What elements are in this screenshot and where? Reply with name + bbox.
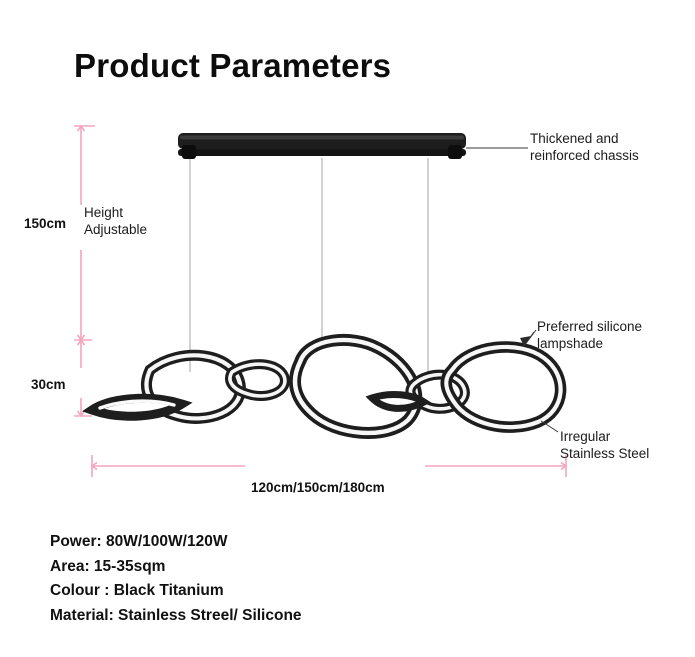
annotation-stainless-steel-line1: Irregular bbox=[560, 428, 649, 445]
annotation-chassis-line2: reinforced chassis bbox=[530, 147, 639, 164]
lamp-rings bbox=[92, 340, 561, 433]
annotation-lampshade-line2: lampshade bbox=[537, 335, 642, 352]
dimension-label-width: 120cm/150cm/180cm bbox=[251, 480, 385, 495]
annotation-stainless-steel-line2: Stainless Steel bbox=[560, 445, 649, 462]
ceiling-chassis bbox=[178, 133, 466, 159]
product-diagram: 150cm 30cm 120cm/150cm/180cm Height Adju… bbox=[0, 0, 695, 520]
annotation-height-adjustable-line1: Height bbox=[84, 204, 147, 221]
annotation-lampshade-line1: Preferred silicone bbox=[537, 318, 642, 335]
annotation-chassis: Thickened and reinforced chassis bbox=[530, 130, 639, 164]
annotation-height-adjustable: Height Adjustable bbox=[84, 204, 147, 238]
spec-power: Power: 80W/100W/120W bbox=[50, 530, 670, 555]
horizontal-dimension-rail bbox=[92, 455, 566, 477]
dimension-label-height-upper: 150cm bbox=[24, 216, 66, 231]
spec-area: Area: 15-35sqm bbox=[50, 555, 670, 580]
annotation-height-adjustable-line2: Adjustable bbox=[84, 221, 147, 238]
specs-list: Power: 80W/100W/120W Area: 15-35sqm Colo… bbox=[50, 530, 670, 628]
vertical-dimension-rail bbox=[74, 126, 95, 416]
leader-lines bbox=[466, 148, 558, 432]
product-parameters-page: Product Parameters bbox=[0, 0, 695, 657]
annotation-lampshade: Preferred silicone lampshade bbox=[537, 318, 642, 352]
spec-colour: Colour : Black Titanium bbox=[50, 579, 670, 604]
annotation-stainless-steel: Irregular Stainless Steel bbox=[560, 428, 649, 462]
dimension-label-height-lower: 30cm bbox=[31, 377, 66, 392]
spec-material: Material: Stainless Streel/ Silicone bbox=[50, 604, 670, 629]
annotation-chassis-line1: Thickened and bbox=[530, 130, 639, 147]
